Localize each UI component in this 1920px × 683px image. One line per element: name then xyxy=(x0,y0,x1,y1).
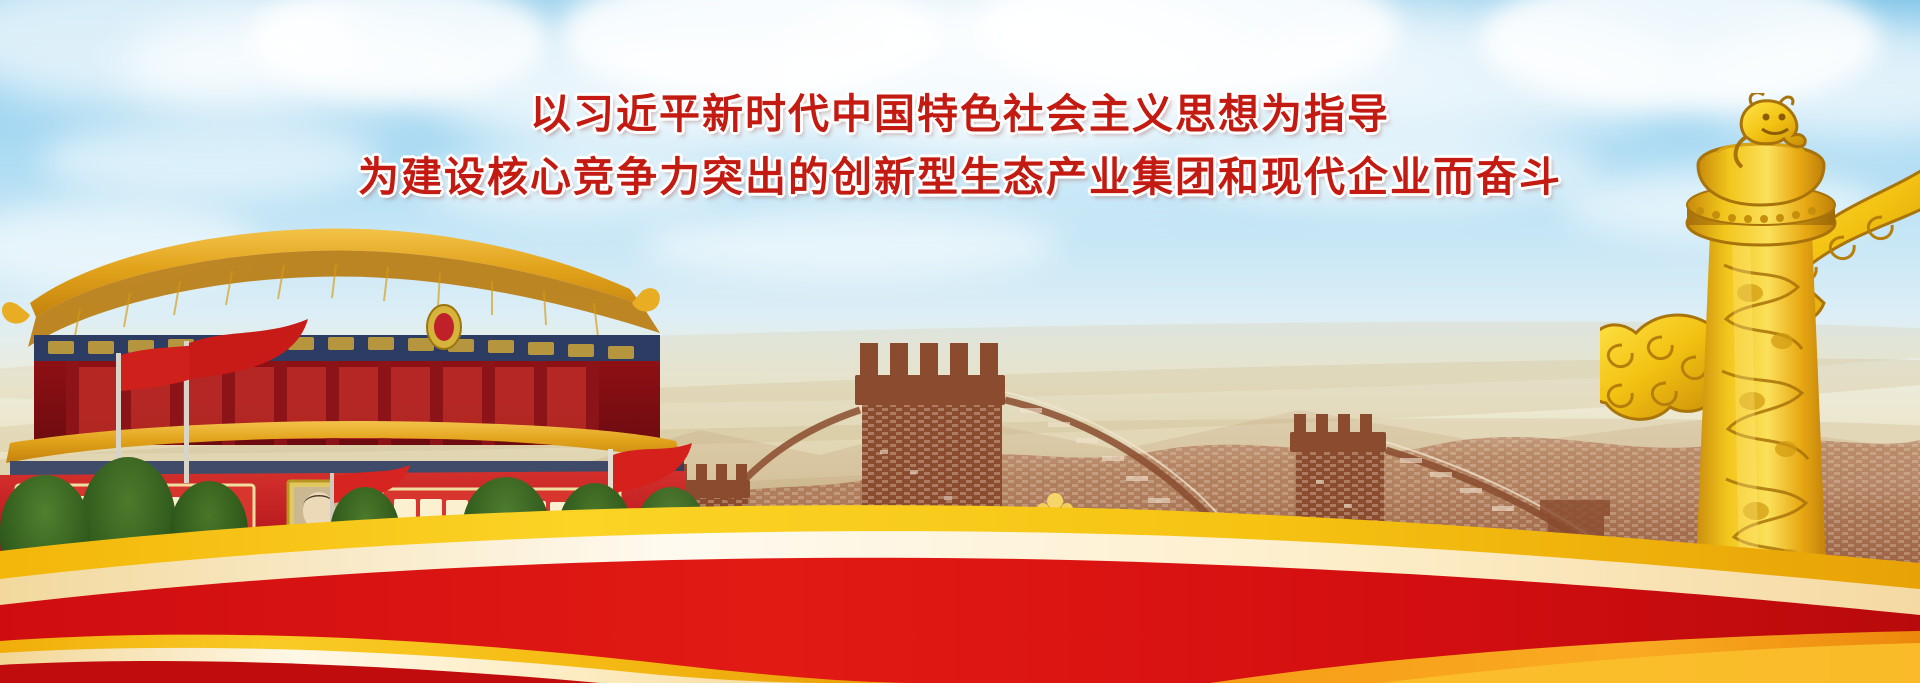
party-propaganda-banner: 以习近平新时代中国特色社会主义思想为指导 为建设核心竞争力突出的创新型生态产业集… xyxy=(0,0,1920,683)
roof-emblem xyxy=(427,305,461,349)
bottom-ribbon-decoration xyxy=(0,493,1920,683)
